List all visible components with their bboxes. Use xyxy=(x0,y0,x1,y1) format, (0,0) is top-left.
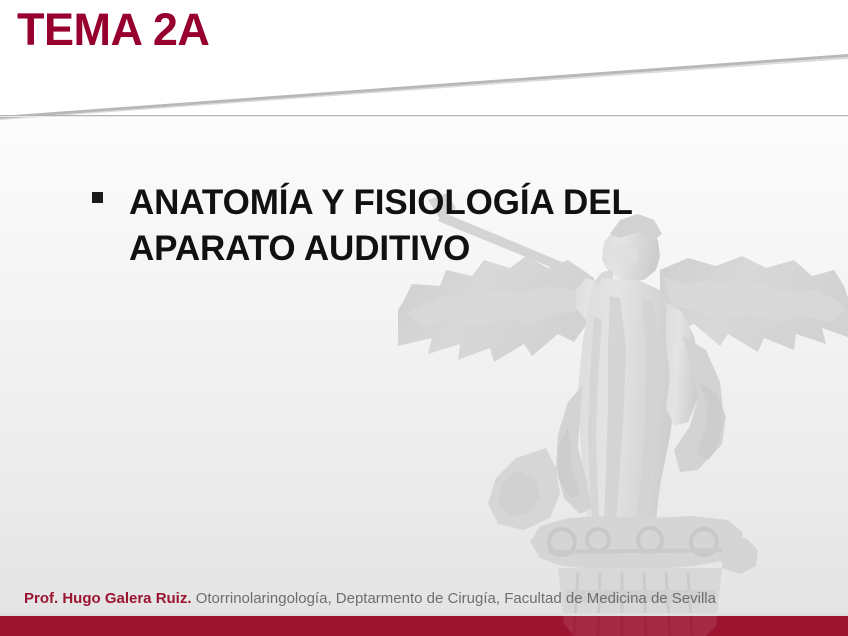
header-divider xyxy=(0,115,848,117)
slide: TEMA 2A ANATOMÍA Y FISIOLOGÍA DEL APARAT… xyxy=(0,0,848,636)
giraldillo-pedestal-watermark-icon xyxy=(398,616,848,636)
footer-author: Prof. Hugo Galera Ruiz. xyxy=(24,590,192,607)
footer-bar xyxy=(0,616,848,636)
list-item: ANATOMÍA Y FISIOLOGÍA DEL APARATO AUDITI… xyxy=(92,180,712,272)
square-bullet-icon xyxy=(92,192,103,203)
footer-credit: Prof. Hugo Galera Ruiz. Otorrinolaringol… xyxy=(24,590,716,608)
footer-affiliation: Otorrinolaringología, Deptarmento de Cir… xyxy=(192,590,716,607)
page-title: TEMA 2A xyxy=(17,6,209,53)
list-item-label: ANATOMÍA Y FISIOLOGÍA DEL APARATO AUDITI… xyxy=(129,180,712,272)
slide-content: ANATOMÍA Y FISIOLOGÍA DEL APARATO AUDITI… xyxy=(92,180,712,272)
slide-header: TEMA 2A xyxy=(0,0,848,116)
